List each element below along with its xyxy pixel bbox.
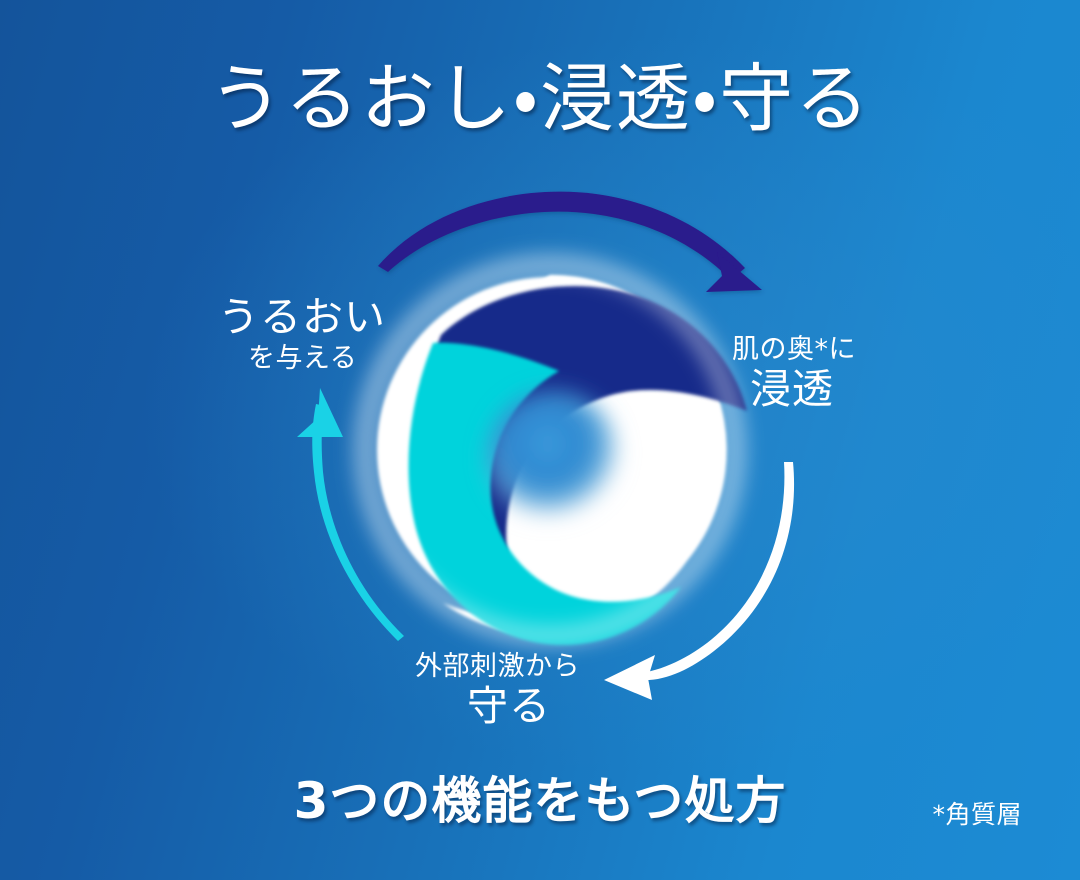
- step-label-moisture: うるおい を与える: [218, 296, 386, 376]
- step-label-protect-sub: 外部刺激から: [415, 651, 580, 683]
- step-label-penetrate-sub: 肌の奥*に: [732, 334, 856, 366]
- swirl-core: [487, 391, 619, 523]
- infographic-canvas: うるおし・浸透・守る: [0, 0, 1080, 880]
- step-label-protect-main: 守る: [467, 685, 580, 728]
- bottom-caption: 3つの機能をもつ処方: [0, 776, 1080, 826]
- step-label-penetrate-main: 浸透: [750, 368, 856, 411]
- footnote: *角質層: [932, 802, 1022, 827]
- triskelion-swirl-graphic: [315, 215, 785, 685]
- step-label-moisture-sub: を与える: [248, 343, 386, 375]
- step-label-moisture-main: うるおい: [218, 296, 386, 339]
- step-label-protect: 外部刺激から 守る: [415, 651, 580, 729]
- page-title: うるおし・浸透・守る: [0, 62, 1080, 136]
- step-label-penetrate: 肌の奥*に 浸透: [732, 334, 856, 412]
